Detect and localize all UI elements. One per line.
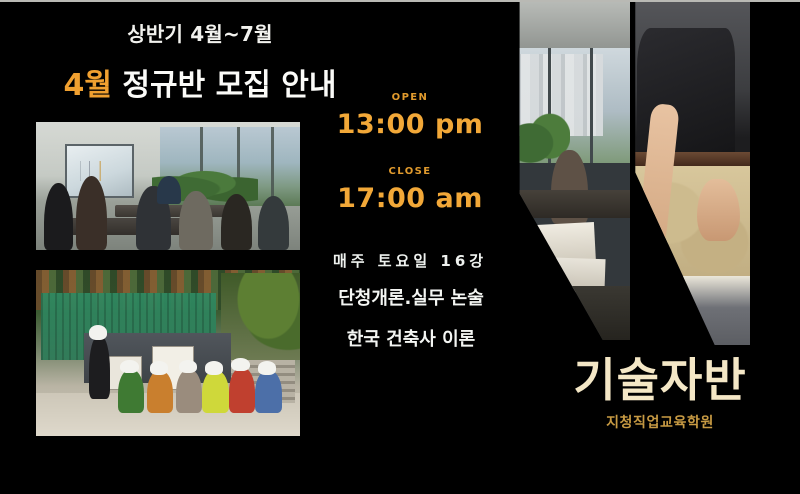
hard-hat xyxy=(258,361,276,374)
course-item: 단청개론.실무 논술 xyxy=(296,288,526,311)
close-time: 17:00 am xyxy=(300,183,520,214)
classroom-lecture-photo xyxy=(36,122,300,250)
hard-hat xyxy=(205,361,223,374)
study-desk xyxy=(506,190,630,217)
drawing-hands-photo xyxy=(624,0,750,345)
brand-block: 기술자반 지청직업교육학원 xyxy=(520,356,800,432)
course-item: 한국 건축사 이론 xyxy=(296,329,526,352)
close-label: CLOSE xyxy=(300,166,520,177)
open-time: 13:00 pm xyxy=(300,109,520,140)
seated-student xyxy=(44,183,73,250)
squatting-student xyxy=(202,371,228,413)
course-list: 단청개론.실무 논술 한국 건축사 이론 xyxy=(296,288,526,369)
schedule-block: OPEN 13:00 pm CLOSE 17:00 am xyxy=(300,92,520,214)
instructor xyxy=(157,176,181,204)
wooden-ledge xyxy=(624,152,750,166)
fieldtrip-trees xyxy=(221,273,300,359)
study-ceiling xyxy=(506,0,630,54)
hard-hat xyxy=(89,325,107,340)
drawing-floor xyxy=(624,276,750,345)
open-label: OPEN xyxy=(300,92,520,103)
classroom-desk-back xyxy=(115,205,231,217)
fieldtrip-site-photo xyxy=(36,270,300,436)
hard-hat xyxy=(150,361,168,374)
squatting-student xyxy=(147,371,173,413)
window-mullion xyxy=(271,127,274,206)
headline-month: 4월 xyxy=(63,68,111,103)
window-mullion xyxy=(590,48,593,164)
hard-hat xyxy=(179,360,197,373)
hand xyxy=(697,179,740,241)
top-edge-hairline xyxy=(0,0,800,2)
brand-subtitle: 지청직업교육학원 xyxy=(520,412,800,432)
hard-hat xyxy=(120,360,138,373)
squatting-student xyxy=(229,368,255,413)
schedule-spacer xyxy=(300,140,520,166)
squatting-student xyxy=(176,370,202,413)
seated-student xyxy=(179,191,213,250)
hard-hat xyxy=(231,358,249,371)
squatting-student xyxy=(118,370,144,413)
course-recruitment-poster: 상반기 4월~7월 4월 정규반 모집 안내 xyxy=(0,0,800,494)
standing-guide xyxy=(89,336,110,399)
squatting-student xyxy=(255,371,281,413)
brand-name: 기술자반 xyxy=(520,356,800,404)
schedule-note: 매주 토요일 16강 xyxy=(300,250,520,271)
poster-kicker: 상반기 4월~7월 xyxy=(0,22,400,46)
